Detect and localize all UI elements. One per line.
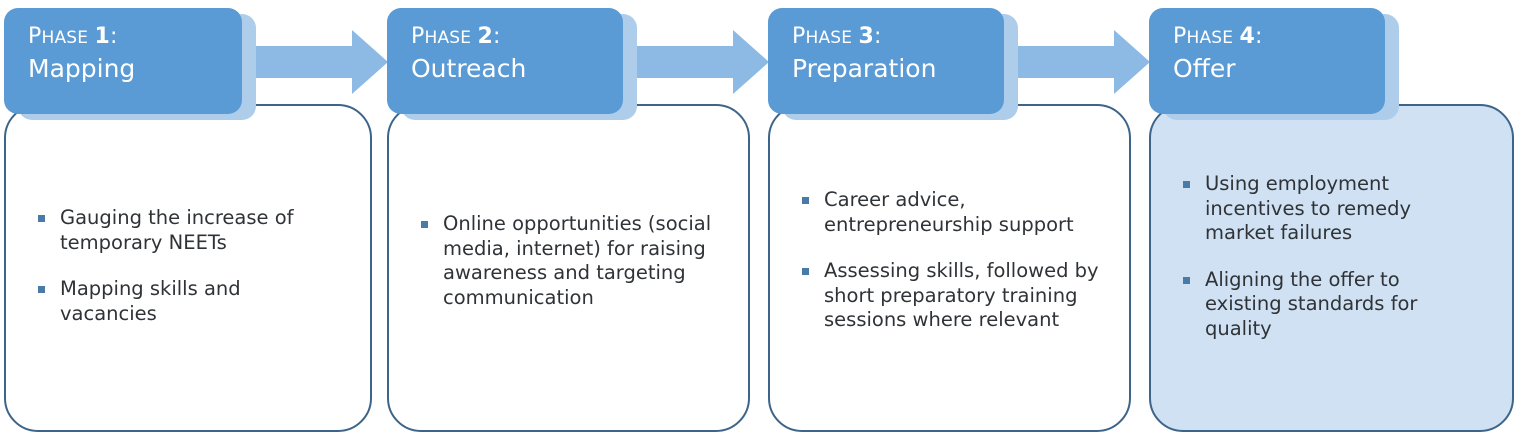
list-item: Mapping skills and vacancies: [32, 277, 308, 326]
phase-kicker-initial-2: P: [411, 24, 424, 49]
phase-header-4[interactable]: PHASE 4: Offer: [1149, 8, 1385, 114]
bullet-square-icon: [802, 268, 809, 275]
phase-bullets-3: Career advice, entrepreneurship support …: [768, 188, 1131, 333]
phase-title-1: Mapping: [28, 53, 242, 85]
phase-number-2: 2: [477, 24, 493, 49]
phase-column-2: PHASE 2: Outreach Online opportunities (…: [387, 0, 750, 437]
phase-kicker-rest-1: HASE: [41, 28, 88, 48]
phase-number-4: 4: [1239, 24, 1255, 49]
phases-diagram: PHASE 1: Mapping Gauging the increase of…: [0, 0, 1518, 437]
phase-kicker-rest-3: HASE: [805, 28, 852, 48]
phase-kicker-rest-4: HASE: [1186, 28, 1233, 48]
list-item: Using employment incentives to remedy ma…: [1177, 172, 1438, 246]
phase-kicker-2: PHASE 2:: [411, 26, 623, 49]
phase-colon-4: :: [1255, 24, 1263, 49]
bullet-text: Gauging the increase of temporary NEETs: [60, 206, 294, 254]
phase-header-2[interactable]: PHASE 2: Outreach: [387, 8, 623, 114]
phase-kicker-initial-3: P: [792, 24, 805, 49]
phase-colon-2: :: [493, 24, 501, 49]
bullet-text: Assessing skills, followed by short prep…: [824, 259, 1099, 331]
phase-column-3: PHASE 3: Preparation Career advice, entr…: [768, 0, 1131, 437]
bullet-square-icon: [1183, 277, 1190, 284]
phase-title-4: Offer: [1173, 53, 1385, 85]
list-item: Gauging the increase of temporary NEETs: [32, 206, 308, 255]
phase-bullets-4: Using employment incentives to remedy ma…: [1149, 172, 1514, 341]
phase-kicker-1: PHASE 1:: [28, 26, 242, 49]
phase-title-3: Preparation: [792, 53, 1004, 85]
list-item: Online opportunities (social media, inte…: [415, 212, 720, 310]
phase-colon-1: :: [110, 24, 118, 49]
phase-header-3[interactable]: PHASE 3: Preparation: [768, 8, 1004, 114]
phase-header-1[interactable]: PHASE 1: Mapping: [4, 8, 242, 114]
phase-number-1: 1: [94, 24, 110, 49]
phase-bullets-2: Online opportunities (social media, inte…: [387, 212, 750, 310]
bullet-text: Online opportunities (social media, inte…: [443, 212, 711, 309]
phase-colon-3: :: [874, 24, 882, 49]
bullet-square-icon: [1183, 181, 1190, 188]
list-item: Aligning the offer to existing standards…: [1177, 268, 1438, 342]
bullet-text: Mapping skills and vacancies: [60, 277, 241, 325]
phase-column-1: PHASE 1: Mapping Gauging the increase of…: [4, 0, 372, 437]
phase-kicker-rest-2: HASE: [424, 28, 471, 48]
bullet-text: Career advice, entrepreneurship support: [824, 188, 1074, 236]
phase-kicker-initial-1: P: [28, 24, 41, 49]
phase-bullets-1: Gauging the increase of temporary NEETs …: [4, 206, 372, 326]
phase-number-3: 3: [858, 24, 874, 49]
phase-column-4: PHASE 4: Offer Using employment incentiv…: [1149, 0, 1514, 437]
bullet-square-icon: [38, 215, 45, 222]
phase-title-2: Outreach: [411, 53, 623, 85]
phase-kicker-initial-4: P: [1173, 24, 1186, 49]
bullet-square-icon: [38, 286, 45, 293]
list-item: Career advice, entrepreneurship support: [796, 188, 1111, 237]
bullet-square-icon: [802, 197, 809, 204]
bullet-text: Using employment incentives to remedy ma…: [1205, 172, 1411, 244]
phase-kicker-4: PHASE 4:: [1173, 26, 1385, 49]
list-item: Assessing skills, followed by short prep…: [796, 259, 1111, 333]
bullet-text: Aligning the offer to existing standards…: [1205, 268, 1417, 340]
phase-kicker-3: PHASE 3:: [792, 26, 1004, 49]
bullet-square-icon: [421, 221, 428, 228]
